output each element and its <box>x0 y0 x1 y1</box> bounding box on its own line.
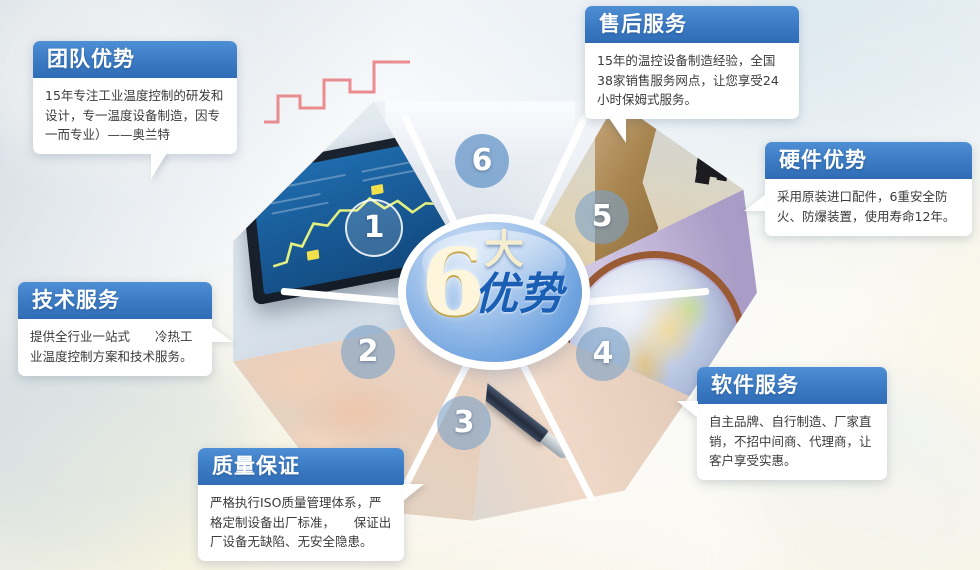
callout-tail <box>744 194 766 211</box>
callout-card-team[interactable]: 团队优势 15年专注工业温度控制的研发和设计，专一温度设备制造，因专一而专业）—… <box>33 41 237 154</box>
center-keyword: 优势 <box>474 272 564 318</box>
card-body: 15年专注工业温度控制的研发和设计，专一温度设备制造，因专一而专业）——奥兰特 <box>33 78 237 154</box>
card-body: 15年的温控设备制造经验，全国38家销售服务网点，让您享受24小时保姆式服务。 <box>585 43 799 119</box>
segment-badge-1[interactable]: 1 <box>345 199 403 257</box>
card-header: 质量保证 <box>198 448 404 485</box>
callout-card-hardware[interactable]: 硬件优势 采用原装进口配件，6重安全防火、防爆装置，使用寿命12年。 <box>765 142 972 236</box>
card-body: 严格执行ISO质量管理体系，严格定制设备出厂标准， 保证出厂设备无缺陷、无安全隐… <box>198 485 404 561</box>
segment-badge-6[interactable]: 6 <box>455 134 509 188</box>
callout-tail <box>677 401 698 418</box>
card-title: 技术服务 <box>32 288 198 312</box>
center-emblem: 6 大 优势 <box>406 222 582 362</box>
callout-card-technical[interactable]: 技术服务 提供全行业一站式 冷热工业温度控制方案和技术服务。 <box>18 282 212 376</box>
card-title: 硬件优势 <box>779 148 958 172</box>
callout-tail <box>609 118 626 143</box>
center-unit: 大 <box>484 230 524 270</box>
card-body: 采用原装进口配件，6重安全防火、防爆装置，使用寿命12年。 <box>765 179 972 236</box>
card-header: 团队优势 <box>33 41 237 78</box>
callout-tail <box>151 153 167 179</box>
card-header: 软件服务 <box>697 367 887 404</box>
segment-badge-4[interactable]: 4 <box>576 327 630 381</box>
climber-figure-detail <box>695 123 733 179</box>
callout-tail <box>403 484 424 501</box>
segment-badge-5[interactable]: 5 <box>575 190 629 244</box>
card-title: 团队优势 <box>47 47 223 71</box>
callout-card-after-sales[interactable]: 售后服务 15年的温控设备制造经验，全国38家销售服务网点，让您享受24小时保姆… <box>585 6 799 119</box>
card-header: 技术服务 <box>18 282 212 319</box>
card-header: 售后服务 <box>585 6 799 43</box>
infographic-canvas: 1 2 3 4 5 6 6 大 优势 团队优势 15年专注工业温度控制的研发和设… <box>0 0 980 570</box>
card-body: 提供全行业一站式 冷热工业温度控制方案和技术服务。 <box>18 319 212 376</box>
card-body: 自主品牌、自行制造、厂家直销，不招中间商、代理商，让客户享受实惠。 <box>697 404 887 480</box>
segment-badge-3[interactable]: 3 <box>437 396 491 450</box>
segment-badge-2[interactable]: 2 <box>341 325 395 379</box>
callout-card-quality[interactable]: 质量保证 严格执行ISO质量管理体系，严格定制设备出厂标准， 保证出厂设备无缺陷… <box>198 448 404 561</box>
card-header: 硬件优势 <box>765 142 972 179</box>
card-title: 质量保证 <box>212 454 390 478</box>
card-title: 软件服务 <box>711 373 873 397</box>
callout-card-software[interactable]: 软件服务 自主品牌、自行制造、厂家直销，不招中间商、代理商，让客户享受实惠。 <box>697 367 887 480</box>
card-title: 售后服务 <box>599 12 785 36</box>
callout-tail <box>211 326 233 342</box>
